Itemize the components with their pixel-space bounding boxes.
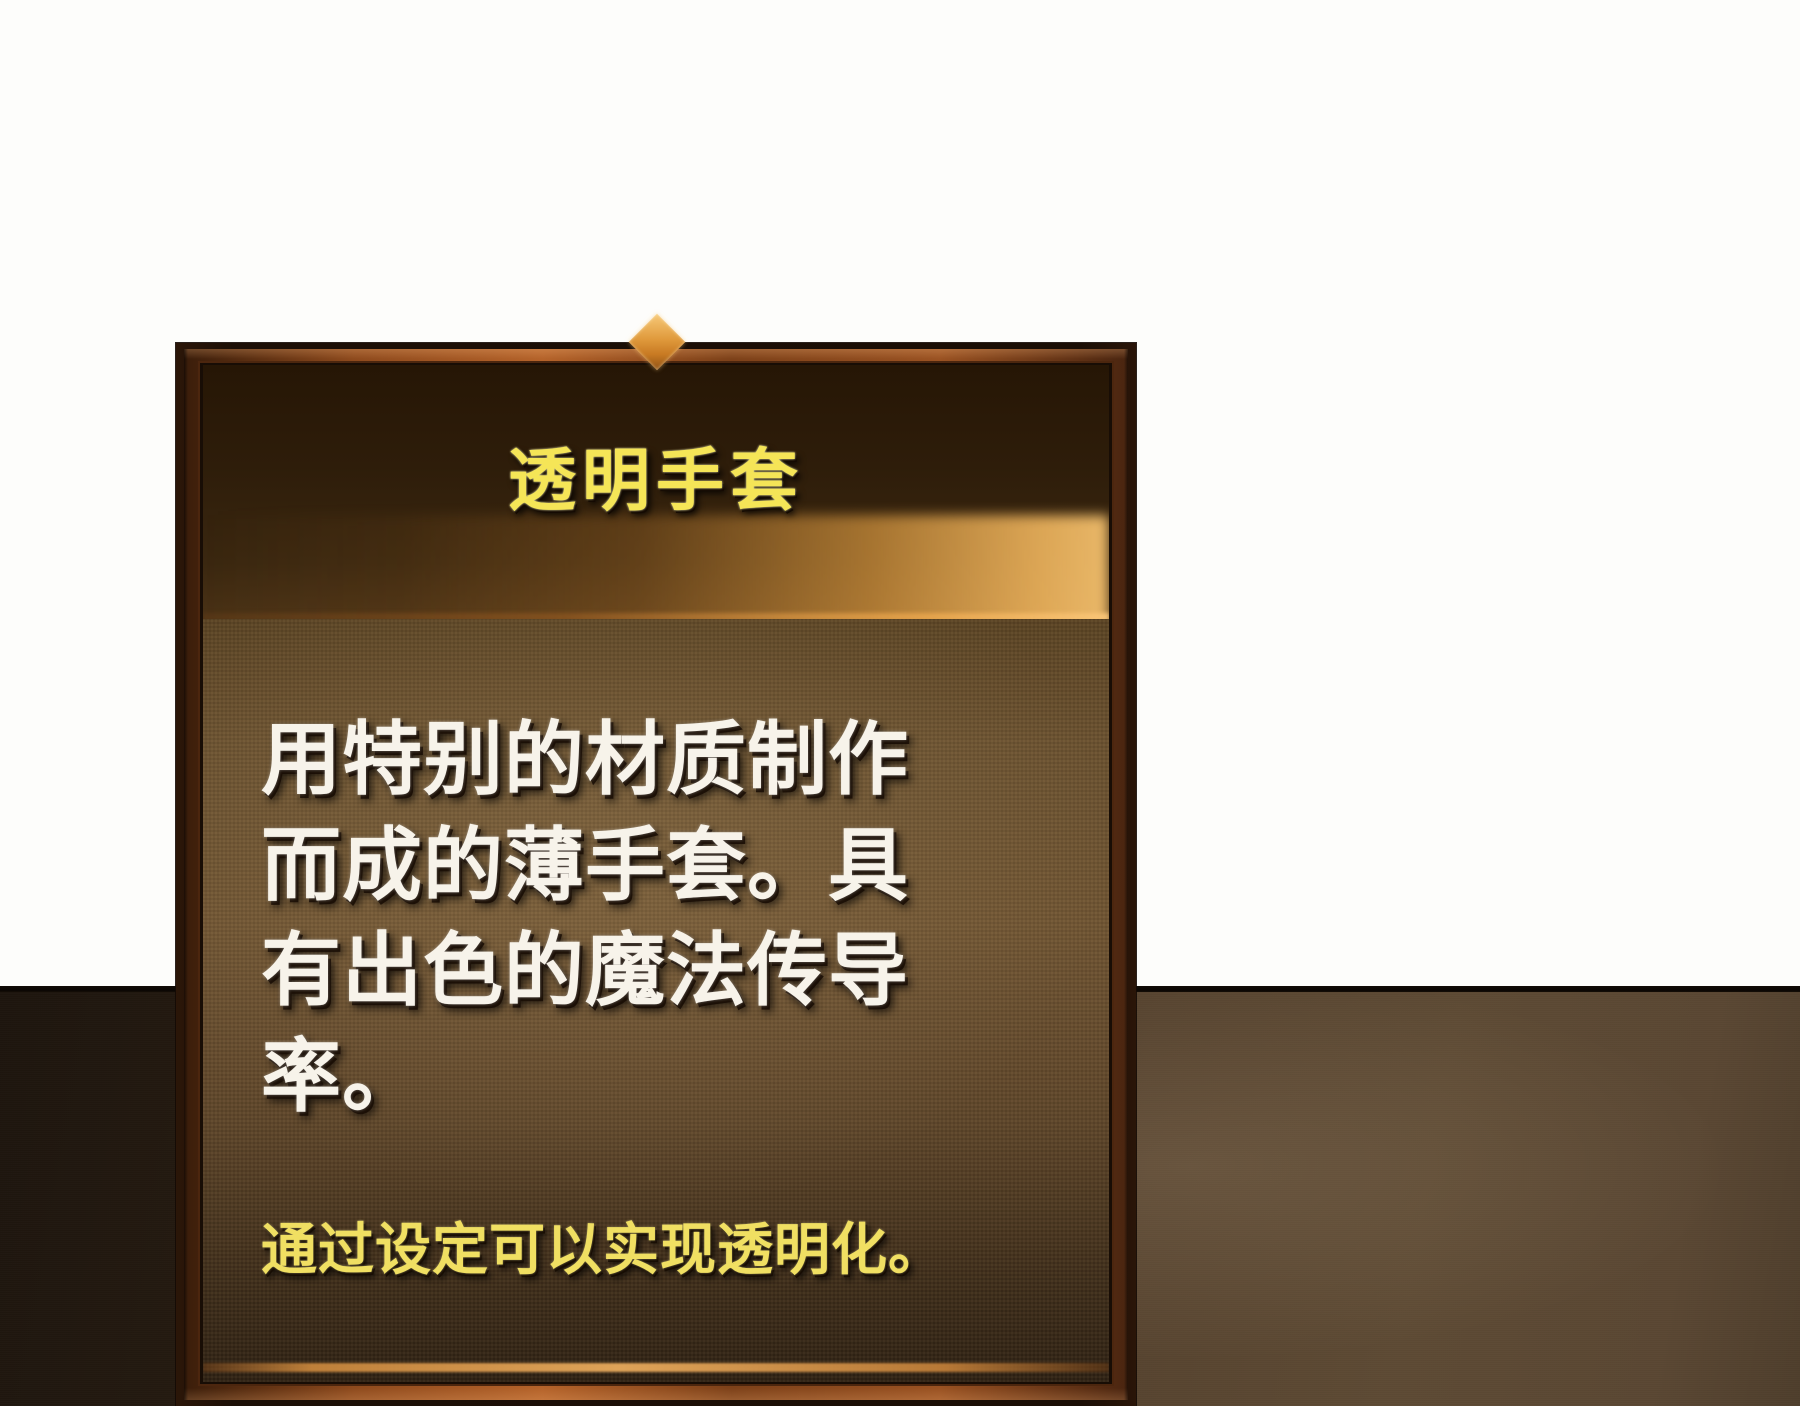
panel-interior: 透明手套 用特别的材质制作 而成的薄手套。具 有出色的魔法传导 率。 通过设定可… xyxy=(203,365,1109,1382)
panel-body: 用特别的材质制作 而成的薄手套。具 有出色的魔法传导 率。 通过设定可以实现透明… xyxy=(203,619,1109,1382)
description-line: 而成的薄手套。具 xyxy=(261,815,1001,921)
screenshot-root: 透明手套 用特别的材质制作 而成的薄手套。具 有出色的魔法传导 率。 通过设定可… xyxy=(0,0,1800,1406)
item-description: 用特别的材质制作 而成的薄手套。具 有出色的魔法传导 率。 xyxy=(261,709,1001,1131)
body-bottom-accent-line xyxy=(203,1363,1109,1372)
item-title: 透明手套 xyxy=(203,425,1109,524)
item-tooltip-panel[interactable]: 透明手套 用特别的材质制作 而成的薄手套。具 有出色的魔法传导 率。 通过设定可… xyxy=(176,343,1136,1406)
description-line: 率。 xyxy=(261,1026,1001,1132)
description-line: 用特别的材质制作 xyxy=(261,709,1001,815)
item-usage-note: 通过设定可以实现透明化。 xyxy=(261,1205,1081,1286)
description-line: 有出色的魔法传导 xyxy=(261,920,1001,1026)
panel-header: 透明手套 xyxy=(203,365,1109,619)
